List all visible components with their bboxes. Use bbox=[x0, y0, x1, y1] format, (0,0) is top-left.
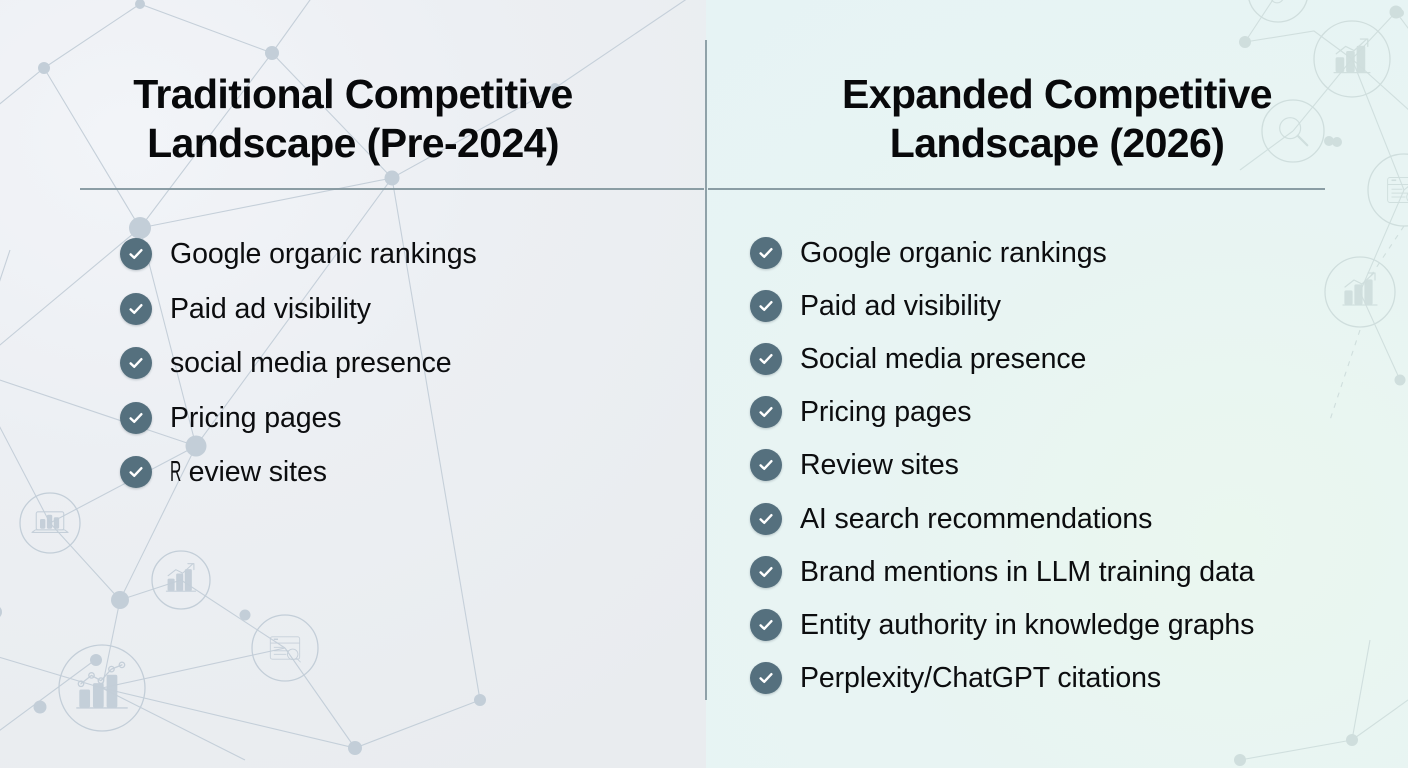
expanded-column-title: Expanded Competitive Landscape (2026) bbox=[706, 70, 1408, 168]
traditional-landscape-column: Traditional Competitive Landscape (Pre-2… bbox=[0, 0, 706, 768]
clipped-glyph: R bbox=[170, 456, 181, 488]
traditional-column-title: Traditional Competitive Landscape (Pre-2… bbox=[0, 70, 706, 168]
list-item: Brand mentions in LLM training data bbox=[750, 545, 1408, 598]
expanded-title-line-1: Expanded Competitive bbox=[842, 71, 1272, 117]
list-item: Google organic rankings bbox=[120, 227, 706, 282]
list-item-label: Paid ad visibility bbox=[170, 293, 371, 325]
traditional-title-line-2: Landscape (Pre-2024) bbox=[147, 120, 559, 166]
list-item: AI search recommendations bbox=[750, 492, 1408, 545]
check-circle-icon bbox=[750, 609, 782, 641]
check-circle-icon bbox=[750, 396, 782, 428]
list-item-label: social media presence bbox=[170, 347, 451, 379]
list-item: Pricing pages bbox=[750, 386, 1408, 439]
check-circle-icon bbox=[120, 238, 152, 270]
list-item-label: AI search recommendations bbox=[800, 503, 1152, 535]
list-item-label: Paid ad visibility bbox=[800, 290, 1001, 322]
list-item-label: Google organic rankings bbox=[170, 238, 477, 270]
list-item: Pricing pages bbox=[120, 391, 706, 446]
check-circle-icon bbox=[120, 402, 152, 434]
list-item-label: Social media presence bbox=[800, 343, 1086, 375]
traditional-title-line-1: Traditional Competitive bbox=[133, 71, 573, 117]
check-circle-icon bbox=[120, 456, 152, 488]
check-circle-icon bbox=[750, 449, 782, 481]
list-item: Entity authority in knowledge graphs bbox=[750, 598, 1408, 651]
list-item: Perplexity/ChatGPT citations bbox=[750, 652, 1408, 705]
check-circle-icon bbox=[120, 347, 152, 379]
expanded-feature-list: Google organic rankings Paid ad visibili… bbox=[706, 226, 1408, 705]
list-item: Review sites bbox=[120, 445, 706, 500]
check-circle-icon bbox=[750, 662, 782, 694]
list-item-label: Review sites bbox=[800, 449, 959, 481]
check-circle-icon bbox=[750, 503, 782, 535]
expanded-title-rule bbox=[708, 188, 1325, 190]
infographic-canvas: Traditional Competitive Landscape (Pre-2… bbox=[0, 0, 1408, 768]
check-circle-icon bbox=[750, 556, 782, 588]
check-circle-icon bbox=[750, 237, 782, 269]
list-item-label: Entity authority in knowledge graphs bbox=[800, 609, 1254, 641]
expanded-title-line-2: Landscape (2026) bbox=[890, 120, 1225, 166]
list-item-label: Perplexity/ChatGPT citations bbox=[800, 662, 1161, 694]
list-item: Review sites bbox=[750, 439, 1408, 492]
list-item: social media presence bbox=[120, 336, 706, 391]
list-item: Paid ad visibility bbox=[750, 279, 1408, 332]
traditional-feature-list: Google organic rankings Paid ad visibili… bbox=[0, 227, 706, 500]
check-circle-icon bbox=[750, 290, 782, 322]
check-circle-icon bbox=[120, 293, 152, 325]
list-item: Social media presence bbox=[750, 332, 1408, 385]
list-item-label: Review sites bbox=[170, 456, 327, 488]
list-item: Google organic rankings bbox=[750, 226, 1408, 279]
check-circle-icon bbox=[750, 343, 782, 375]
list-item-label: Pricing pages bbox=[170, 402, 341, 434]
list-item: Paid ad visibility bbox=[120, 282, 706, 337]
list-item-label: Pricing pages bbox=[800, 396, 971, 428]
traditional-title-rule bbox=[80, 188, 704, 190]
list-item-label: Google organic rankings bbox=[800, 237, 1107, 269]
expanded-landscape-column: Expanded Competitive Landscape (2026) Go… bbox=[706, 0, 1408, 768]
list-item-label: Brand mentions in LLM training data bbox=[800, 556, 1254, 588]
